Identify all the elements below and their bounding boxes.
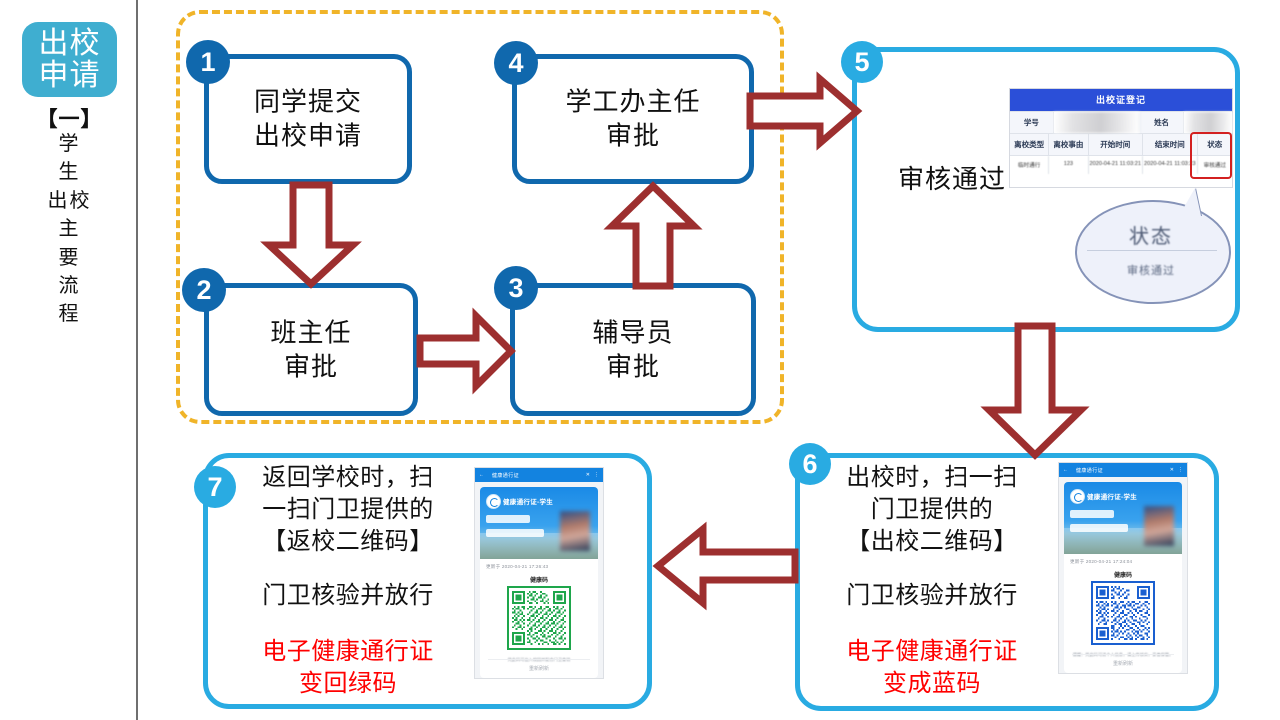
step-box-7-title: 返回学校时，扫 一扫门卫提供的 【返校二维码】 (228, 462, 468, 558)
table-cell-label: 姓名 (1140, 112, 1184, 133)
step-badge-7: 7 (194, 466, 236, 508)
step-box-6-title: 出校时，扫一扫 门卫提供的 【出校二维码】 (812, 462, 1052, 558)
step-box-7-middle-line: 门卫核验并放行 (228, 580, 468, 612)
step-badge-4: 4 (494, 41, 538, 85)
update-time: 更新于 2020-04-21 17:26:43 (486, 564, 548, 570)
arrow-step1-to-step2 (265, 183, 357, 288)
vertical-title-line: 出校 (22, 187, 117, 215)
step-box-4-line: 审批 (517, 119, 749, 153)
step-box-2[interactable]: 班主任 审批 (204, 283, 418, 416)
phone-footer-button[interactable]: 重新刷新 (480, 665, 598, 672)
close-icon[interactable]: ✕ (586, 472, 590, 478)
step-box-6-line: 门卫提供的 (812, 494, 1052, 526)
step-box-6-red-note: 电子健康通行证 变成蓝码 (812, 636, 1052, 700)
back-arrow-icon[interactable]: ← (1063, 467, 1068, 473)
status-column-highlight (1190, 132, 1232, 179)
arrow-step5-to-step6 (985, 324, 1085, 458)
student-portrait-redacted (560, 511, 590, 551)
step-box-6-line: 出校时，扫一扫 (812, 462, 1052, 494)
student-portrait-redacted (1144, 506, 1174, 546)
step-box-1-text: 同学提交 出校申请 (209, 85, 407, 154)
health-pass-card: 健康通行证-学生 更新于 2020-04-21 17:24:04 健康码 (1064, 482, 1182, 673)
update-time: 更新于 2020-04-21 17:24:04 (1070, 559, 1132, 565)
card-title: 健康通行证-学生 (1087, 491, 1137, 501)
step-box-3-line: 辅导员 (515, 315, 751, 349)
step-box-4[interactable]: 学工办主任 审批 (512, 54, 754, 184)
status-callout-tail (1179, 188, 1201, 216)
slide-canvas: 出校 申请 【一】 学 生 出校 主 要 流 程 (0, 0, 1280, 720)
step-box-7[interactable]: 返回学校时，扫 一扫门卫提供的 【返校二维码】 门卫核验并放行 电子健康通行证 … (203, 453, 652, 709)
status-callout-divider (1087, 250, 1217, 251)
table-header-cell: 开始时间 (1089, 134, 1144, 155)
health-pass-logo-icon (486, 494, 501, 509)
phone-footer-divider (1072, 654, 1174, 655)
step-box-1-line: 出校申请 (209, 119, 407, 153)
step-box-4-text: 学工办主任 审批 (517, 85, 749, 154)
table-header-cell: 离校类型 (1010, 134, 1049, 155)
vertical-title-line: 生 (22, 158, 117, 186)
step-box-2-line: 审批 (209, 350, 413, 384)
qr-code-svg (1096, 586, 1150, 640)
status-callout-value: 审核通过 (1089, 262, 1213, 278)
step-box-2-text: 班主任 审批 (209, 315, 413, 384)
card-name-field-redacted (1070, 510, 1114, 518)
status-callout-title: 状态 (1089, 220, 1213, 249)
step-box-6[interactable]: 出校时，扫一扫 门卫提供的 【出校二维码】 门卫核验并放行 电子健康通行证 变成… (795, 453, 1219, 711)
card-name-field-redacted (486, 515, 530, 523)
step-box-7-red-line: 变回绿码 (228, 668, 468, 700)
vertical-title-line: 流 (22, 272, 117, 300)
phone-footer-divider (488, 659, 590, 660)
back-arrow-icon[interactable]: ← (479, 472, 484, 478)
phone-title-bar: ← 健康通行证 ✕ ⋮ (1059, 463, 1187, 477)
qr-code-svg (512, 591, 566, 645)
brand-badge-line1: 出校 (39, 28, 101, 60)
step-badge-1: 1 (186, 40, 230, 84)
vertical-title: 学 生 出校 主 要 流 程 (22, 130, 117, 329)
table-header-cell: 离校事由 (1049, 134, 1088, 155)
step-badge-3: 3 (494, 266, 538, 310)
phone-title: 健康通行证 (488, 472, 582, 479)
phone-title: 健康通行证 (1072, 467, 1166, 474)
brand-badge-line2: 申请 (39, 60, 101, 92)
step-badge-5: 5 (841, 41, 883, 83)
qr-code-blue (1091, 581, 1155, 645)
arrow-step6-to-step7 (655, 526, 797, 606)
table-cell-label: 学号 (1010, 112, 1054, 133)
step-box-3-line: 审批 (515, 350, 751, 384)
phone-footer-button[interactable]: 重新刷新 (1064, 660, 1182, 667)
qr-code-green (507, 586, 571, 650)
table-title: 出校证登记 (1010, 89, 1232, 111)
table-cell-value-redacted (1054, 112, 1140, 133)
sidebar: 出校 申请 【一】 学 生 出校 主 要 流 程 (0, 0, 137, 720)
step-box-7-line: 【返校二维码】 (228, 526, 468, 558)
brand-badge: 出校 申请 (22, 22, 117, 97)
card-title: 健康通行证-学生 (503, 496, 553, 506)
table-row: 学号 姓名 (1010, 111, 1232, 133)
step-badge-6: 6 (789, 443, 831, 485)
qr-label: 健康码 (480, 575, 598, 584)
health-code-phone-screenshot-green: ← 健康通行证 ✕ ⋮ 健康通行证-学生 更新于 2020-04-21 17:2… (474, 467, 604, 679)
close-icon[interactable]: ✕ (1170, 467, 1174, 473)
section-label: 【一】 (22, 103, 117, 133)
vertical-title-line: 学 (22, 130, 117, 158)
step-box-7-red-note: 电子健康通行证 变回绿码 (228, 636, 468, 700)
step-box-6-middle-line: 门卫核验并放行 (812, 580, 1052, 612)
health-pass-card: 健康通行证-学生 更新于 2020-04-21 17:26:43 健康码 (480, 487, 598, 678)
step-box-4-line: 学工办主任 (517, 85, 749, 119)
table-cell: 2020-04-21 11:03:21 (1089, 156, 1144, 174)
step-box-6-red-line: 电子健康通行证 (812, 636, 1052, 668)
card-hero-banner: 健康通行证-学生 (480, 487, 598, 559)
vertical-title-line: 要 (22, 244, 117, 272)
table-cell: 临时通行 (1010, 156, 1049, 174)
qr-label: 健康码 (1064, 570, 1182, 579)
step-box-6-red-line: 变成蓝码 (812, 668, 1052, 700)
arrow-step2-to-step3 (418, 312, 514, 390)
step-box-3-text: 辅导员 审批 (515, 315, 751, 384)
step-box-7-red-line: 电子健康通行证 (228, 636, 468, 668)
step-box-2-line: 班主任 (209, 315, 413, 349)
health-pass-logo-icon (1070, 489, 1085, 504)
card-hero-banner: 健康通行证-学生 (1064, 482, 1182, 554)
step-box-1-line: 同学提交 (209, 85, 407, 119)
card-id-field-redacted (1070, 524, 1128, 532)
qr-note: 凭此码可出入校园并配合门卫查验 (488, 657, 590, 663)
more-vertical-icon[interactable]: ⋮ (594, 472, 599, 478)
arrow-step4-to-step5 (748, 76, 860, 146)
step-box-3[interactable]: 辅导员 审批 (510, 283, 756, 416)
card-id-field-redacted (486, 529, 544, 537)
qr-note: 提醒：凭此码可进个人信息，请上传核实，妥善保管。 (1072, 652, 1174, 658)
table-cell-value-redacted (1184, 112, 1232, 133)
vertical-title-line: 主 (22, 215, 117, 243)
vertical-title-line: 程 (22, 300, 117, 328)
health-code-phone-screenshot-blue: ← 健康通行证 ✕ ⋮ 健康通行证-学生 更新于 2020-04-21 17:2… (1058, 462, 1188, 674)
phone-title-bar: ← 健康通行证 ✕ ⋮ (475, 468, 603, 482)
step-box-6-line: 【出校二维码】 (812, 526, 1052, 558)
step-box-7-line: 一扫门卫提供的 (228, 494, 468, 526)
step-badge-2: 2 (182, 268, 226, 312)
sidebar-divider (136, 0, 138, 720)
arrow-step3-to-step4 (608, 183, 698, 288)
table-cell: 123 (1049, 156, 1088, 174)
step-box-1[interactable]: 同学提交 出校申请 (204, 54, 412, 184)
step-box-5[interactable]: 审核通过 出校证登记 学号 姓名 离校类型 离校事由 开始时间 结束时间 状态 … (852, 47, 1240, 332)
status-callout-bubble (1075, 200, 1231, 304)
more-vertical-icon[interactable]: ⋮ (1178, 467, 1183, 473)
step-box-7-line: 返回学校时，扫 (228, 462, 468, 494)
exit-permit-table-screenshot: 出校证登记 学号 姓名 离校类型 离校事由 开始时间 结束时间 状态 临时通行 … (1009, 88, 1233, 188)
